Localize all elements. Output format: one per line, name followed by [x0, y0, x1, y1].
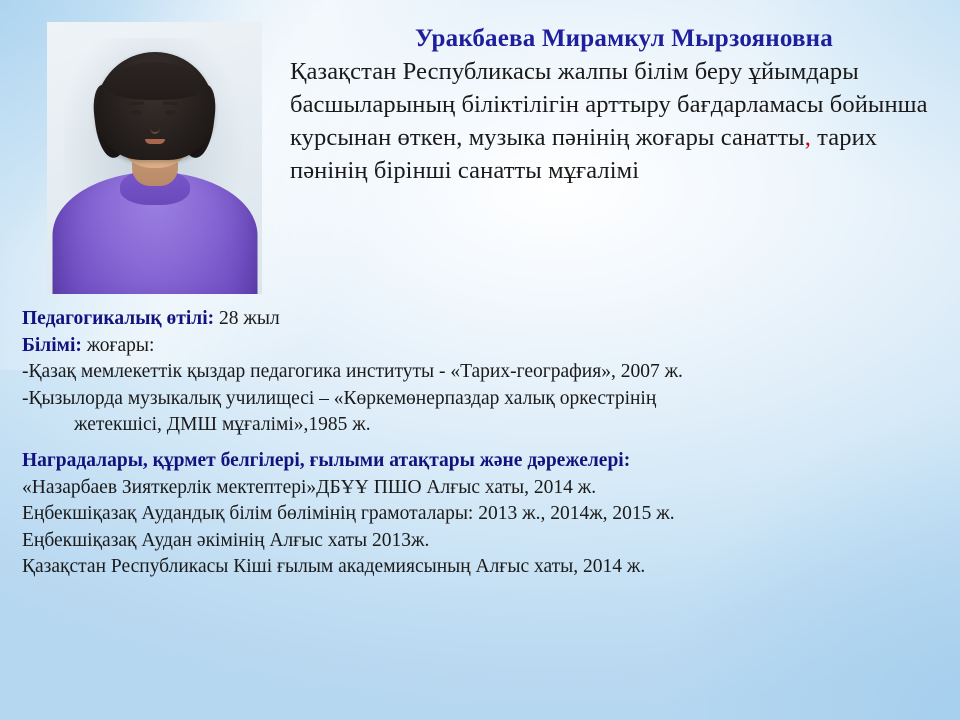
experience-line: Педагогикалық өтілі: 28 жыл — [22, 306, 952, 333]
photo-nose — [150, 122, 160, 134]
award-item: Еңбекшіқазақ Аудандық білім бөлімінің гр… — [22, 501, 952, 528]
experience-label: Педагогикалық өтілі: — [22, 308, 214, 329]
education-label: Білімі: — [22, 335, 82, 356]
header-block: Уракбаева Мирамкул Мырзояновна Қазақстан… — [290, 24, 940, 188]
experience-value: 28 жыл — [214, 308, 280, 329]
award-item: Еңбекшіқазақ Аудан әкімінің Алғыс хаты 2… — [22, 528, 952, 555]
education-line: Білімі: жоғары: — [22, 333, 952, 360]
education-item: жетекшісі, ДМШ мұғалімі»,1985 ж. — [22, 412, 952, 439]
details-block: Педагогикалық өтілі: 28 жыл Білімі: жоға… — [22, 306, 952, 581]
person-name: Уракбаева Мирамкул Мырзояновна — [290, 24, 940, 53]
presentation-slide: Уракбаева Мирамкул Мырзояновна Қазақстан… — [0, 0, 960, 720]
awards-heading: Наградалары, құрмет белгілері, ғылыми ат… — [22, 448, 952, 475]
education-item: -Қазақ мемлекеттік қыздар педагогика инс… — [22, 359, 952, 386]
intro-paragraph: Қазақстан Республикасы жалпы білім беру … — [290, 56, 940, 188]
photo-mouth — [145, 139, 165, 144]
photo-eye-right — [165, 110, 176, 115]
award-item: Қазақстан Республикасы Кіші ғылым академ… — [22, 554, 952, 581]
award-item: «Назарбаев Зияткерлік мектептері»ДБҰҰ ПШ… — [22, 475, 952, 502]
education-value: жоғары: — [82, 335, 155, 356]
education-item: -Қызылорда музыкалық училищесі – «Көркем… — [22, 386, 952, 413]
portrait-photo — [47, 22, 262, 294]
portrait-illustration — [47, 22, 262, 294]
photo-eye-left — [131, 110, 142, 115]
